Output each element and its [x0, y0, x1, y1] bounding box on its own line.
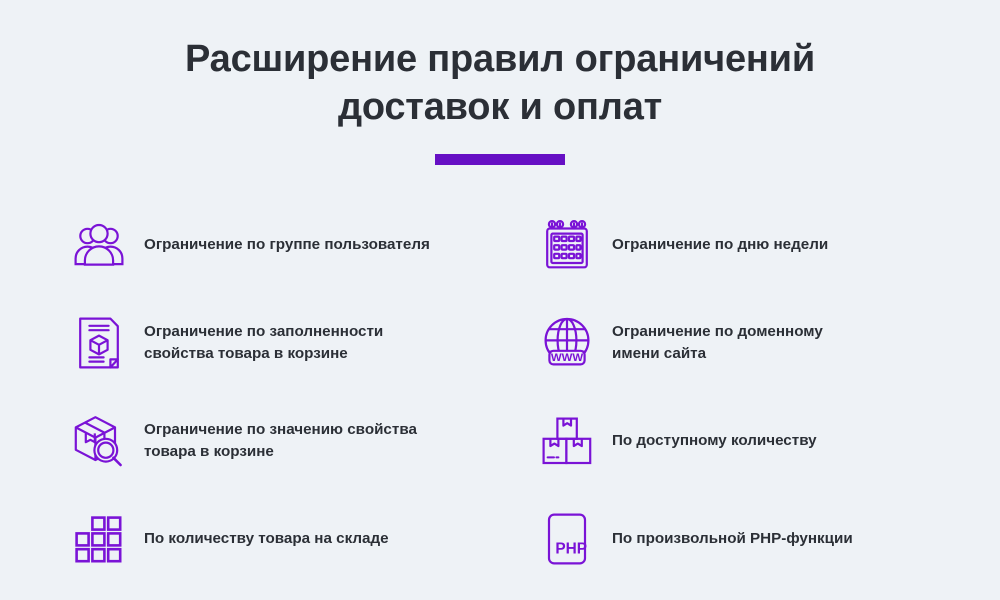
php-icon-text: PHP: [555, 540, 587, 557]
box-magnifier-icon: [72, 414, 126, 468]
page-title-line-1: Расширение правил ограничений: [185, 38, 815, 80]
page-title: Расширение правил ограничений доставок и…: [120, 36, 880, 132]
feature-label: Ограничение по дню недели: [612, 234, 828, 256]
feature-item-day-of-week[interactable]: Ограничение по дню недели: [540, 196, 1000, 294]
calendar-icon: [540, 218, 594, 272]
globe-www-icon: WWW: [540, 316, 594, 370]
feature-label: По произвольной PHP-функции: [612, 528, 853, 550]
feature-grid: Ограничение по группе пользователя: [0, 196, 1000, 588]
feature-item-available-quantity[interactable]: По доступному количеству: [540, 392, 1000, 490]
feature-item-stock-quantity[interactable]: По количеству товара на складе: [72, 490, 534, 588]
feature-label: Ограничение по заполненности свойства то…: [144, 321, 383, 364]
svg-text:WWW: WWW: [551, 352, 584, 364]
page-title-line-2: доставок и оплат: [338, 86, 662, 128]
users-group-icon: [72, 218, 126, 272]
feature-label: Ограничение по значению свойства товара …: [144, 419, 417, 462]
php-file-icon: PHP: [540, 512, 594, 566]
feature-item-property-value[interactable]: Ограничение по значению свойства товара …: [72, 392, 534, 490]
document-box-icon: [72, 316, 126, 370]
feature-item-property-filled[interactable]: Ограничение по заполненности свойства то…: [72, 294, 534, 392]
stacked-boxes-icon: [540, 414, 594, 468]
feature-item-user-group[interactable]: Ограничение по группе пользователя: [72, 196, 534, 294]
feature-label: Ограничение по доменному имени сайта: [612, 321, 823, 364]
squares-grid-icon: [72, 512, 126, 566]
feature-label: По количеству товара на складе: [144, 528, 389, 550]
feature-item-php-function[interactable]: PHP По произвольной PHP-функции: [540, 490, 1000, 588]
feature-label: По доступному количеству: [612, 430, 817, 452]
title-divider: [435, 154, 565, 165]
title-block: Расширение правил ограничений доставок и…: [0, 0, 1000, 165]
feature-label: Ограничение по группе пользователя: [144, 234, 430, 256]
feature-item-domain-name[interactable]: WWW Ограничение по доменному имени сайта: [540, 294, 1000, 392]
slide-root: Расширение правил ограничений доставок и…: [0, 0, 1000, 600]
